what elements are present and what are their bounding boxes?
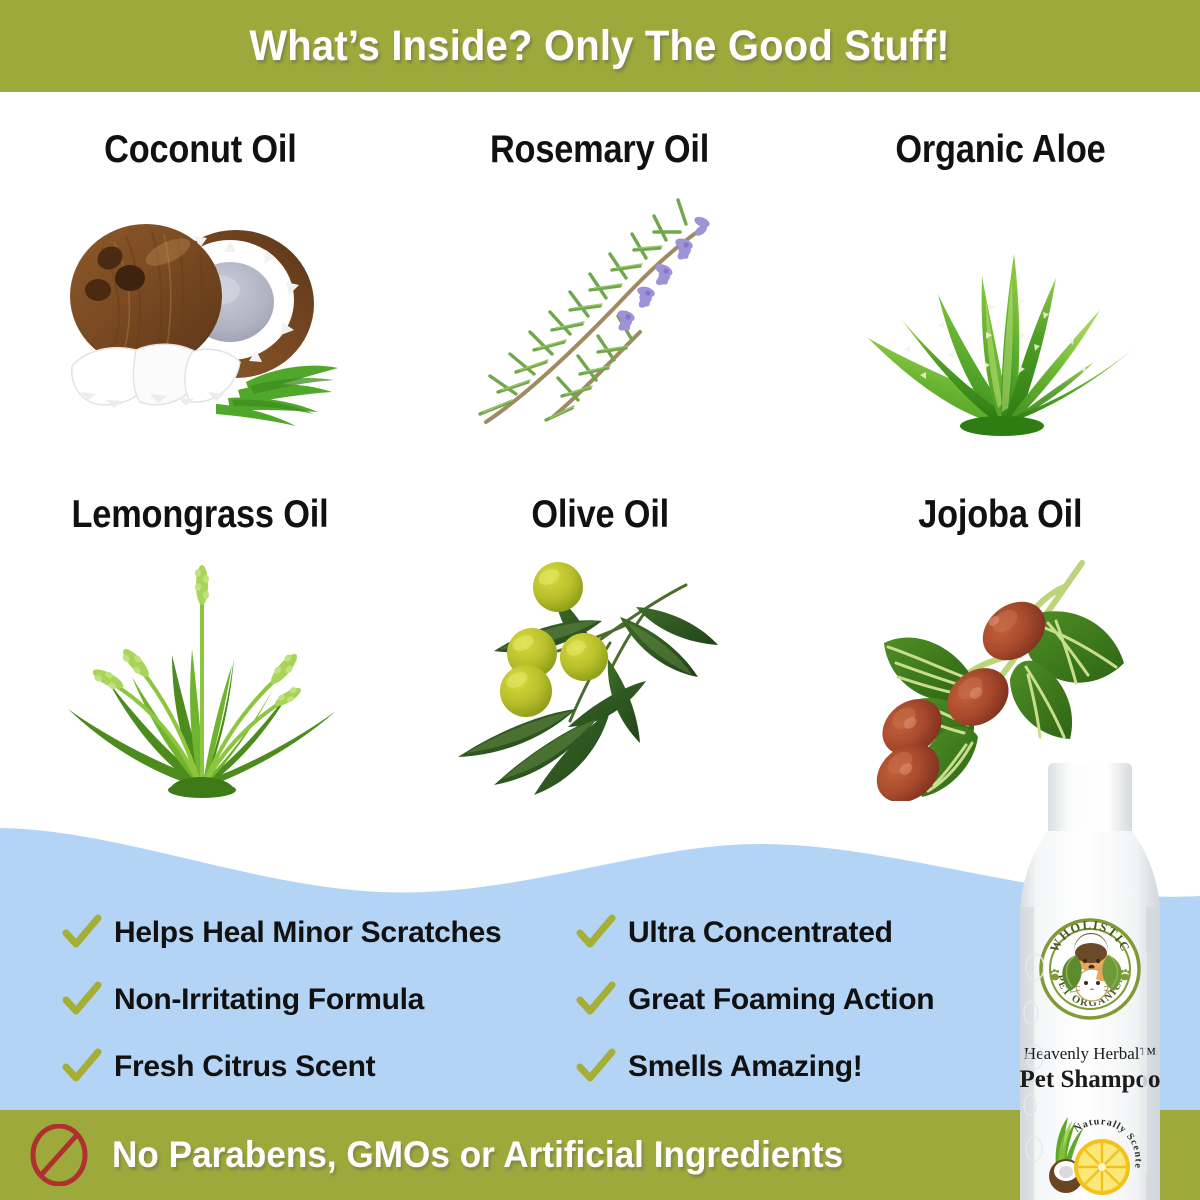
ingredient-card-lemongrass-oil: Lemongrass Oil (0, 467, 400, 837)
check-icon (576, 913, 616, 953)
benefit-label: Fresh Citrus Scent (114, 1050, 375, 1084)
benefit-label: Ultra Concentrated (628, 916, 893, 950)
product-line-name: Heavenly Herbal™ (1024, 1044, 1156, 1063)
benefit-label: Great Foaming Action (628, 983, 934, 1017)
rosemary-sprig-illustration (450, 186, 750, 436)
ingredient-label: Organic Aloe (895, 128, 1105, 172)
check-icon (62, 980, 102, 1020)
header-banner: What’s Inside? Only The Good Stuff! (0, 0, 1200, 92)
check-icon (576, 980, 616, 1020)
ingredients-row-1: Coconut Oil (0, 92, 1200, 462)
benefit-item: Great Foaming Action (576, 972, 990, 1028)
benefit-label: Non-Irritating Formula (114, 983, 424, 1017)
footer-label: No Parabens, GMOs or Artificial Ingredie… (112, 1134, 843, 1176)
ingredient-card-olive-oil: Olive Oil (400, 467, 800, 837)
benefit-item: Ultra Concentrated (576, 905, 990, 961)
benefit-item: Smells Amazing! (576, 1039, 990, 1095)
product-bottle: WHOLISTIC PET ORGANICS (997, 757, 1183, 1200)
ingredient-card-organic-aloe: Organic Aloe (800, 92, 1200, 462)
olive-branch-illustration (450, 551, 750, 801)
benefits-column-right: Ultra Concentrated Great Foaming Action … (560, 905, 990, 1095)
page-title: What’s Inside? Only The Good Stuff! (250, 22, 950, 71)
benefit-item: Non-Irritating Formula (62, 972, 560, 1028)
ingredient-label: Lemongrass Oil (72, 493, 329, 537)
benefit-item: Helps Heal Minor Scratches (62, 905, 560, 961)
ingredient-label: Rosemary Oil (490, 128, 709, 172)
check-icon (576, 1047, 616, 1087)
ingredient-card-rosemary-oil: Rosemary Oil (400, 92, 800, 462)
prohibition-no-sign-icon (28, 1124, 90, 1186)
check-icon (62, 1047, 102, 1087)
benefits-column-left: Helps Heal Minor Scratches Non-Irritatin… (0, 905, 560, 1095)
lemongrass-illustration (50, 551, 350, 801)
ingredient-label: Coconut Oil (104, 128, 297, 172)
ingredients-grid: Coconut Oil (0, 92, 1200, 832)
ingredient-label: Jojoba Oil (918, 493, 1082, 537)
product-name: Pet Shampoo (1020, 1066, 1161, 1093)
ingredient-card-coconut-oil: Coconut Oil (0, 92, 400, 462)
benefit-label: Helps Heal Minor Scratches (114, 916, 501, 950)
coconut-illustration (50, 186, 350, 436)
benefit-item: Fresh Citrus Scent (62, 1039, 560, 1095)
ingredient-label: Olive Oil (531, 493, 669, 537)
benefits-list: Helps Heal Minor Scratches Non-Irritatin… (0, 905, 1010, 1095)
aloe-vera-illustration (850, 186, 1150, 436)
check-icon (62, 913, 102, 953)
benefit-label: Smells Amazing! (628, 1050, 862, 1084)
